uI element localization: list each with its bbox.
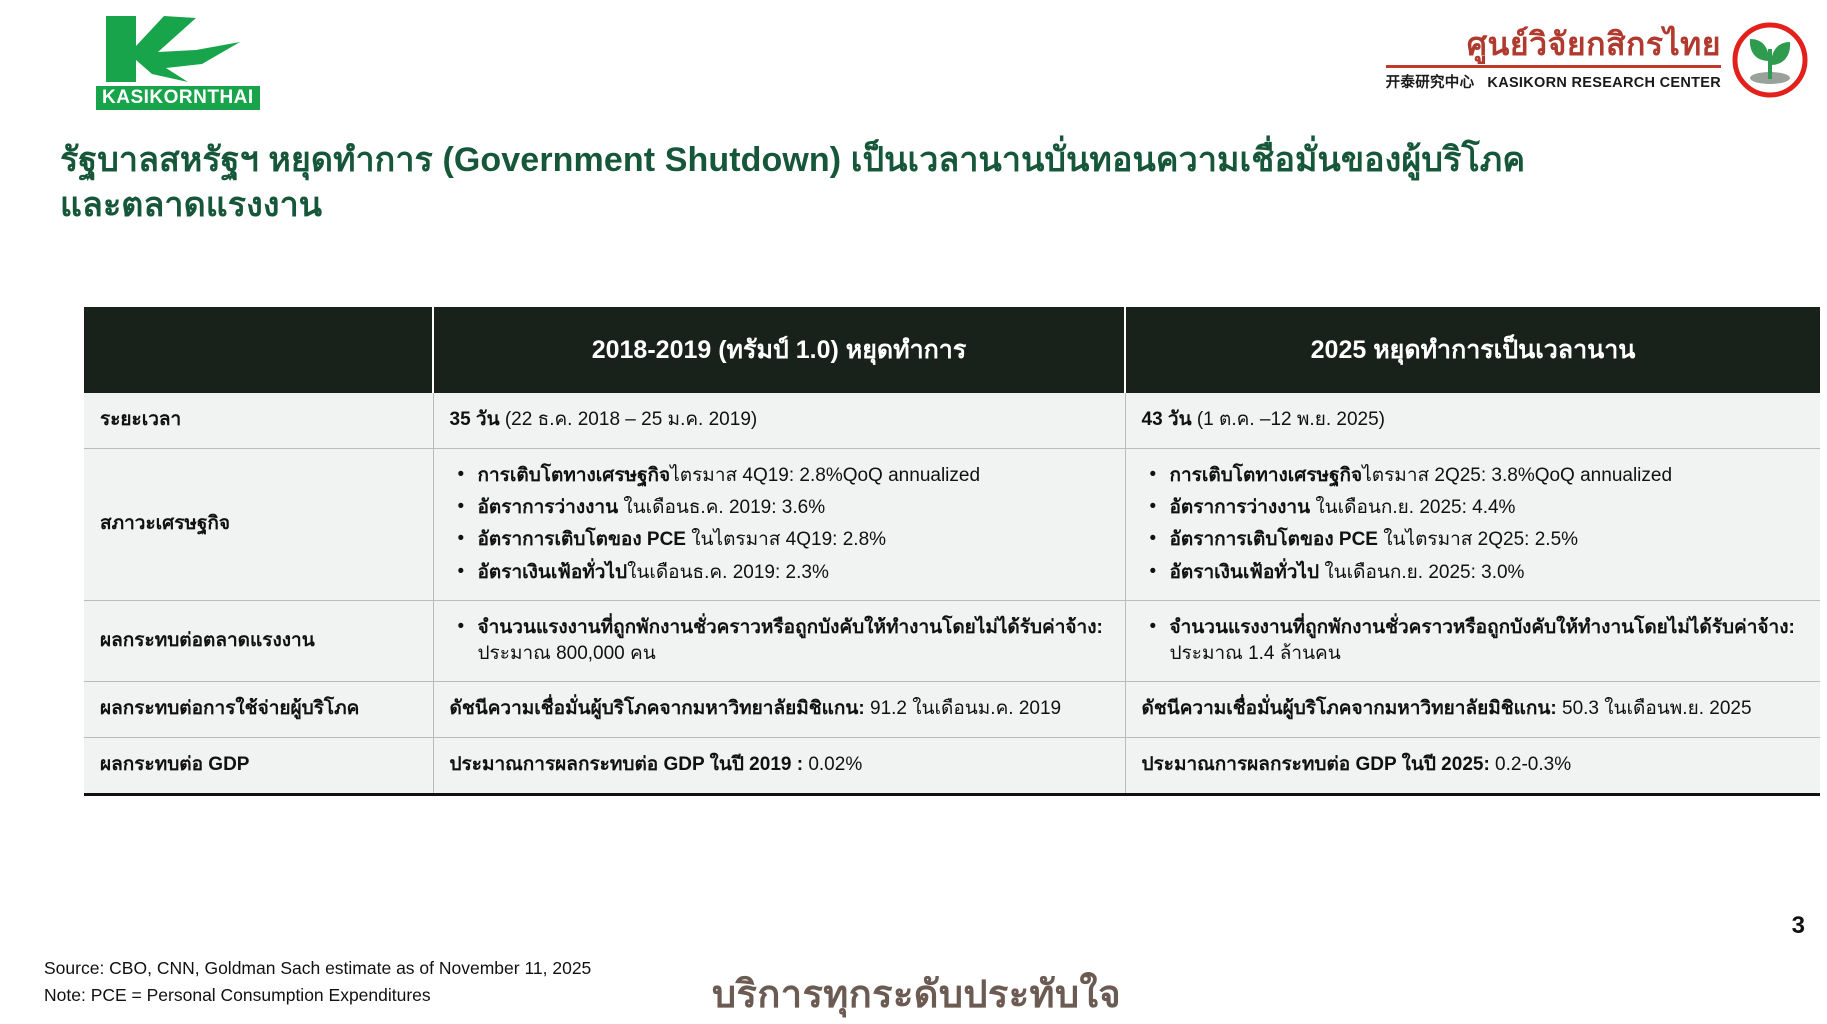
cell-labor-2018: จำนวนแรงงานที่ถูกพักงานชั่วคราวหรือถูกบั…: [433, 600, 1125, 681]
bullet-rest: ในเดือนก.ย. 2025: 3.0%: [1319, 562, 1524, 583]
cell-lead: ประมาณการผลกระทบต่อ GDP ในปี 2025:: [1142, 754, 1490, 775]
cell-labor-2025: จำนวนแรงงานที่ถูกพักงานชั่วคราวหรือถูกบั…: [1125, 600, 1820, 681]
bullet-lead: อัตราการว่างงาน: [1170, 497, 1311, 518]
bullet-lead: อัตราการเติบโตของ PCE: [478, 529, 686, 550]
cell-lead: ดัชนีความเชื่อมั่นผู้บริโภคจากมหาวิทยาลั…: [1142, 698, 1557, 719]
cell-rest: 0.02%: [803, 754, 862, 775]
bullet-rest: ในเดือนธ.ค. 2019: 2.3%: [627, 562, 829, 583]
bullet-rest: ไตรมาส 2Q25: 3.8%QoQ annualized: [1362, 465, 1672, 486]
kasikornthai-logo: KASIKORNTHAI: [92, 12, 252, 112]
cell-gdp-2018: ประมาณการผลกระทบต่อ GDP ในปี 2019 : 0.02…: [433, 738, 1125, 795]
bullet-lead: อัตราการเติบโตของ PCE: [1170, 529, 1378, 550]
bullet-rest: ในไตรมาส 4Q19: 2.8%: [686, 529, 886, 550]
list-item: อัตราเงินเฟ้อทั่วไป ในเดือนก.ย. 2025: 3.…: [1168, 560, 1805, 586]
cell-lead: ประมาณการผลกระทบต่อ GDP ในปี 2019 :: [450, 754, 804, 775]
cell-duration-2025: 43 วัน (1 ต.ค. –12 พ.ย. 2025): [1125, 393, 1820, 448]
shutdown-comparison-table: 2018-2019 (ทรัมป์ 1.0) หยุดทำการ 2025 หย…: [84, 307, 1820, 796]
krc-latin-name: KASIKORN RESEARCH CENTER: [1487, 75, 1721, 91]
cell-rest: (1 ต.ค. –12 พ.ย. 2025): [1192, 409, 1385, 430]
bullet-rest: ในเดือนธ.ค. 2019: 3.6%: [618, 497, 825, 518]
cell-economy-2025: การเติบโตทางเศรษฐกิจไตรมาส 2Q25: 3.8%QoQ…: [1125, 448, 1820, 600]
krc-text-block: ศูนย์วิจัยกสิกรไทย 开泰研究中心 KASIKORN RESEA…: [1386, 28, 1721, 92]
kasikorn-research-center-logo: ศูนย์วิจัยกสิกรไทย 开泰研究中心 KASIKORN RESEA…: [1386, 10, 1809, 110]
cell-rest: (22 ธ.ค. 2018 – 25 ม.ค. 2019): [500, 409, 758, 430]
list-item: การเติบโตทางเศรษฐกิจไตรมาส 2Q25: 3.8%QoQ…: [1168, 463, 1805, 489]
cell-lead: 35 วัน: [450, 409, 500, 430]
list-item: จำนวนแรงงานที่ถูกพักงานชั่วคราวหรือถูกบั…: [1168, 615, 1805, 667]
cell-rest: 0.2-0.3%: [1490, 754, 1571, 775]
column-header-2018-2019: 2018-2019 (ทรัมป์ 1.0) หยุดทำการ: [433, 307, 1125, 393]
cell-lead: 43 วัน: [1142, 409, 1192, 430]
cell-consumer-2018: ดัชนีความเชื่อมั่นผู้บริโภคจากมหาวิทยาลั…: [433, 682, 1125, 738]
list-item: อัตราเงินเฟ้อทั่วไปในเดือนธ.ค. 2019: 2.3…: [476, 560, 1109, 586]
bullet-lead: อัตราการว่างงาน: [478, 497, 619, 518]
table-row: ผลกระทบต่อ GDP ประมาณการผลกระทบต่อ GDP ใ…: [84, 738, 1820, 795]
cell-rest: 91.2 ในเดือนม.ค. 2019: [865, 698, 1061, 719]
row-label-duration: ระยะเวลา: [84, 393, 433, 448]
cell-duration-2018: 35 วัน (22 ธ.ค. 2018 – 25 ม.ค. 2019): [433, 393, 1125, 448]
row-label-gdp-impact: ผลกระทบต่อ GDP: [84, 738, 433, 795]
bullet-list: จำนวนแรงงานที่ถูกพักงานชั่วคราวหรือถูกบั…: [1142, 615, 1805, 667]
cell-consumer-2025: ดัชนีความเชื่อมั่นผู้บริโภคจากมหาวิทยาลั…: [1125, 682, 1820, 738]
bullet-rest: ประมาณ 800,000 คน: [478, 643, 656, 664]
row-label-economic-conditions: สภาวะเศรษฐกิจ: [84, 448, 433, 600]
note-line: Note: PCE = Personal Consumption Expendi…: [44, 982, 591, 1009]
list-item: จำนวนแรงงานที่ถูกพักงานชั่วคราวหรือถูกบั…: [476, 615, 1109, 667]
krc-chinese-name: 开泰研究中心: [1386, 75, 1475, 91]
bullet-lead: การเติบโตทางเศรษฐกิจ: [478, 465, 671, 486]
bullet-lead: จำนวนแรงงานที่ถูกพักงานชั่วคราวหรือถูกบั…: [478, 617, 1103, 638]
krc-thai-name: ศูนย์วิจัยกสิกรไทย: [1386, 28, 1721, 62]
bullet-rest: ประมาณ 1.4 ล้านคน: [1170, 643, 1341, 664]
list-item: อัตราการเติบโตของ PCE ในไตรมาส 2Q25: 2.5…: [1168, 527, 1805, 553]
bullet-lead: การเติบโตทางเศรษฐกิจ: [1170, 465, 1363, 486]
bullet-lead: จำนวนแรงงานที่ถูกพักงานชั่วคราวหรือถูกบั…: [1170, 617, 1795, 638]
bullet-list: การเติบโตทางเศรษฐกิจไตรมาส 4Q19: 2.8%QoQ…: [450, 463, 1109, 586]
sprout-in-red-circle-icon: [1731, 21, 1809, 99]
page-title: รัฐบาลสหรัฐฯ หยุดทำการ (Government Shutd…: [60, 138, 1560, 228]
bullet-list: จำนวนแรงงานที่ถูกพักงานชั่วคราวหรือถูกบั…: [450, 615, 1109, 667]
cell-lead: ดัชนีความเชื่อมั่นผู้บริโภคจากมหาวิทยาลั…: [450, 698, 865, 719]
brand-tagline: บริการทุกระดับประทับใจ: [712, 963, 1121, 1024]
column-header-2025: 2025 หยุดทำการเป็นเวลานาน: [1125, 307, 1820, 393]
slide-header: KASIKORNTHAI ศูนย์วิจัยกสิกรไทย 开泰研究中心 K…: [0, 0, 1827, 120]
cell-economy-2018: การเติบโตทางเศรษฐกิจไตรมาส 4Q19: 2.8%QoQ…: [433, 448, 1125, 600]
krc-divider: [1386, 65, 1721, 68]
source-note: Source: CBO, CNN, Goldman Sach estimate …: [44, 955, 591, 1009]
list-item: อัตราการว่างงาน ในเดือนก.ย. 2025: 4.4%: [1168, 495, 1805, 521]
column-header-blank: [84, 307, 433, 393]
table-row: สภาวะเศรษฐกิจ การเติบโตทางเศรษฐกิจไตรมาส…: [84, 448, 1820, 600]
cell-gdp-2025: ประมาณการผลกระทบต่อ GDP ในปี 2025: 0.2-0…: [1125, 738, 1820, 795]
table-row: ผลกระทบต่อการใช้จ่ายผู้บริโภค ดัชนีความเ…: [84, 682, 1820, 738]
bullet-list: การเติบโตทางเศรษฐกิจไตรมาส 2Q25: 3.8%QoQ…: [1142, 463, 1805, 586]
bullet-rest: ในไตรมาส 2Q25: 2.5%: [1378, 529, 1578, 550]
table-row: ผลกระทบต่อตลาดแรงงาน จำนวนแรงงานที่ถูกพั…: [84, 600, 1820, 681]
comparison-table-container: 2018-2019 (ทรัมป์ 1.0) หยุดทำการ 2025 หย…: [84, 307, 1820, 796]
bullet-lead: อัตราเงินเฟ้อทั่วไป: [1170, 562, 1320, 583]
kasikornthai-wordmark: KASIKORNTHAI: [96, 86, 260, 110]
row-label-consumer-spending-impact: ผลกระทบต่อการใช้จ่ายผู้บริโภค: [84, 682, 433, 738]
bullet-rest: ไตรมาส 4Q19: 2.8%QoQ annualized: [670, 465, 980, 486]
list-item: อัตราการเติบโตของ PCE ในไตรมาส 4Q19: 2.8…: [476, 527, 1109, 553]
krc-english-name: 开泰研究中心 KASIKORN RESEARCH CENTER: [1386, 71, 1721, 92]
bullet-lead: อัตราเงินเฟ้อทั่วไป: [478, 562, 628, 583]
cell-rest: 50.3 ในเดือนพ.ย. 2025: [1557, 698, 1752, 719]
bullet-rest: ในเดือนก.ย. 2025: 4.4%: [1310, 497, 1515, 518]
table-row: ระยะเวลา 35 วัน (22 ธ.ค. 2018 – 25 ม.ค. …: [84, 393, 1820, 448]
list-item: การเติบโตทางเศรษฐกิจไตรมาส 4Q19: 2.8%QoQ…: [476, 463, 1109, 489]
row-label-labor-market-impact: ผลกระทบต่อตลาดแรงงาน: [84, 600, 433, 681]
list-item: อัตราการว่างงาน ในเดือนธ.ค. 2019: 3.6%: [476, 495, 1109, 521]
page-number: 3: [1792, 912, 1805, 940]
kasikornthai-k-icon: [92, 12, 242, 84]
source-line: Source: CBO, CNN, Goldman Sach estimate …: [44, 955, 591, 982]
table-header-row: 2018-2019 (ทรัมป์ 1.0) หยุดทำการ 2025 หย…: [84, 307, 1820, 393]
